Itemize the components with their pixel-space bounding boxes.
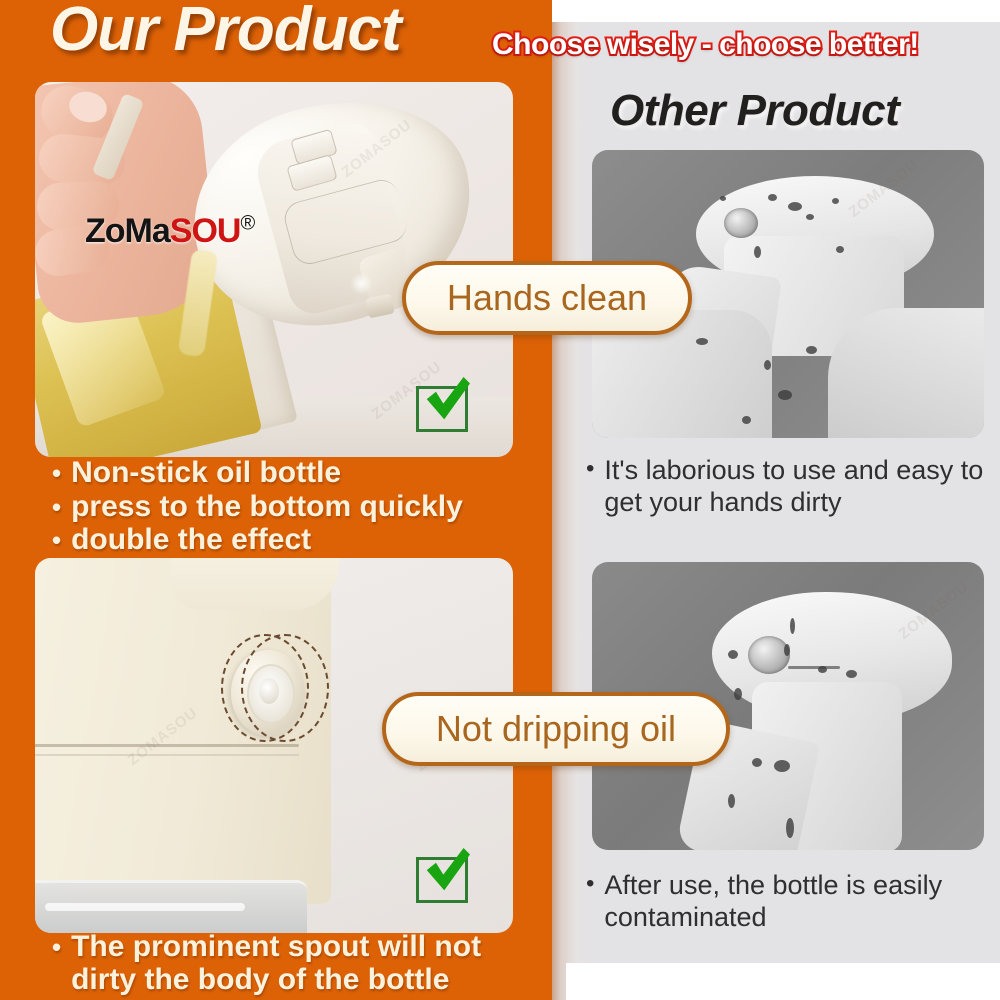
badge-not-dripping-oil: Not dripping oil xyxy=(382,692,730,766)
dirt-spot xyxy=(752,758,762,767)
list-item: • Non-stick oil bottle xyxy=(52,456,522,490)
our-benefits-bottom-list: • The prominent spout will not dirty the… xyxy=(52,930,522,996)
dirt-spot xyxy=(728,794,735,808)
dirt-spot xyxy=(790,618,795,634)
bullet-icon: • xyxy=(586,872,594,896)
badge-not-dripping-oil-label: Not dripping oil xyxy=(436,708,676,750)
bottle-seam-line-secondary xyxy=(35,754,299,756)
bullet-icon: • xyxy=(52,494,61,520)
dirt-spot xyxy=(734,688,742,700)
list-item-label: After use, the bottle is easily contamin… xyxy=(604,870,990,934)
right-panel-top-margin xyxy=(552,0,1000,22)
list-item-label: Non-stick oil bottle xyxy=(71,456,341,490)
other-drawbacks-bottom-list: • After use, the bottle is easily contam… xyxy=(586,870,990,934)
glass-highlight xyxy=(45,903,245,911)
product-comparison-poster: Our Product Other Product Choose wisely … xyxy=(0,0,1000,1000)
tagline-banner: Choose wisely - choose better! xyxy=(492,28,919,62)
list-item: • The prominent spout will not dirty the… xyxy=(52,930,522,996)
bottle-shoulder xyxy=(171,558,339,610)
brand-logo-red: SOU xyxy=(170,212,241,250)
dirt-spot xyxy=(786,818,794,838)
bullet-icon: • xyxy=(52,527,61,553)
list-item: • press to the bottom quickly xyxy=(52,490,522,524)
list-item: • double the effect xyxy=(52,523,522,557)
list-item-label: It's laborious to use and easy to get yo… xyxy=(604,455,990,519)
dirt-spot xyxy=(742,416,751,424)
dirt-spot xyxy=(774,760,790,772)
brand-logo: ZoMaSOU® xyxy=(85,212,254,251)
brand-logo-dark: ZoMa xyxy=(85,212,170,250)
dirt-streak xyxy=(788,666,840,669)
other-product-title: Other Product xyxy=(610,86,899,136)
check-mark-icon xyxy=(416,386,468,432)
registered-trademark-icon: ® xyxy=(240,213,254,235)
check-mark-icon xyxy=(416,857,468,903)
spout-annotation-circle-right xyxy=(241,634,329,742)
bottle-seam-line xyxy=(35,744,299,747)
badge-hands-clean-label: Hands clean xyxy=(447,277,647,319)
other-bottle-valve xyxy=(748,636,790,674)
dirt-spot xyxy=(778,390,792,400)
dirt-spot xyxy=(768,194,777,201)
dirt-spot xyxy=(764,360,771,370)
list-item: • After use, the bottle is easily contam… xyxy=(586,870,990,934)
dirt-spot xyxy=(720,196,726,201)
other-drawbacks-top-list: • It's laborious to use and easy to get … xyxy=(586,455,990,519)
dirt-spot xyxy=(832,198,839,204)
other-hand-right xyxy=(828,308,984,438)
dirt-spot xyxy=(784,644,790,656)
dirt-spot xyxy=(728,650,738,659)
bullet-icon: • xyxy=(586,457,594,481)
badge-hands-clean: Hands clean xyxy=(402,261,692,335)
list-item-label: press to the bottom quickly xyxy=(71,490,463,524)
bullet-icon: • xyxy=(52,934,61,960)
dirt-spot xyxy=(818,666,827,673)
dirt-spot xyxy=(846,670,857,678)
dirt-spot xyxy=(788,202,802,211)
our-product-title: Our Product xyxy=(50,0,401,65)
dirt-spot xyxy=(836,246,844,253)
our-benefits-top-list: • Non-stick oil bottle • press to the bo… xyxy=(52,456,522,557)
list-item: • It's laborious to use and easy to get … xyxy=(586,455,990,519)
other-bottle-valve xyxy=(724,208,758,238)
list-item-label: The prominent spout will not dirty the b… xyxy=(71,930,522,996)
list-item-label: double the effect xyxy=(71,523,311,557)
dirt-spot xyxy=(806,214,814,220)
right-panel-bottom-margin xyxy=(566,963,1000,1000)
dirt-spot xyxy=(696,338,708,345)
dirt-spot xyxy=(806,346,817,354)
bullet-icon: • xyxy=(52,460,61,486)
dirt-spot xyxy=(754,246,761,258)
